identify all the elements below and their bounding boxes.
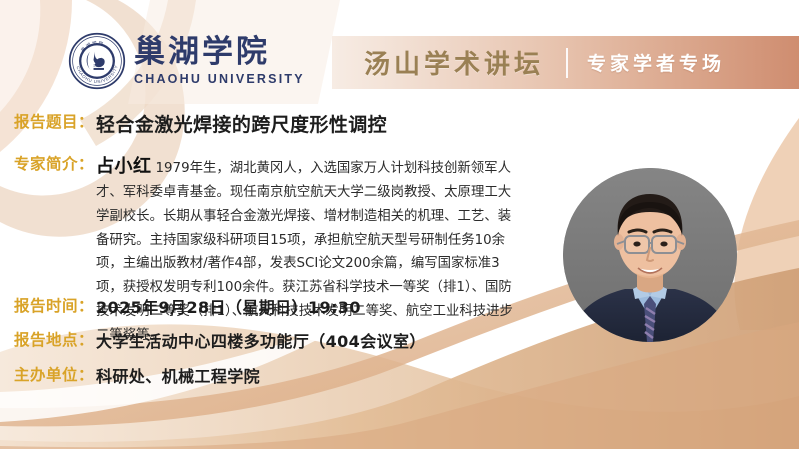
report-host-value: 科研处、机械工程学院 — [96, 363, 260, 387]
poster: 1977 巢 湖 学 院 CHAOHU UNIVERSITY 巢湖学院 CHAO… — [0, 0, 799, 449]
report-title-row: 报告题目： 轻合金激光焊接的跨尺度形性调控 — [14, 110, 387, 137]
university-name-en: CHAOHU UNIVERSITY — [134, 73, 305, 86]
report-time-row: 报告时间： 2025年9月28日（星期日）19:30 — [14, 294, 361, 318]
header: 1977 巢 湖 学 院 CHAOHU UNIVERSITY 巢湖学院 CHAO… — [0, 0, 799, 103]
speaker-bio-body: 占小红1979年生，湖北黄冈人，入选国家万人计划科技创新领军人才、军科委卓青基金… — [96, 152, 524, 348]
report-place-label: 报告地点： — [14, 328, 94, 350]
speaker-name: 占小红 — [96, 156, 152, 177]
report-host-row: 主办单位： 科研处、机械工程学院 — [14, 363, 260, 387]
banner-divider — [566, 48, 568, 78]
chaohu-university-seal-icon: 1977 巢 湖 学 院 CHAOHU UNIVERSITY — [68, 32, 126, 90]
speaker-portrait-image — [563, 168, 737, 342]
report-place-value: 大学生活动中心四楼多功能厅（404会议室） — [96, 328, 426, 352]
report-time-label: 报告时间： — [14, 294, 94, 316]
forum-banner-title: 汤山学术讲坛 — [364, 44, 544, 81]
forum-banner-subtitle: 专家学者专场 — [587, 49, 725, 76]
university-name-group: 巢湖学院 CHAOHU UNIVERSITY — [134, 37, 305, 86]
university-logo-block: 1977 巢 湖 学 院 CHAOHU UNIVERSITY 巢湖学院 CHAO… — [68, 32, 305, 90]
report-time-value: 2025年9月28日（星期日）19:30 — [96, 294, 361, 318]
svg-text:1977: 1977 — [93, 63, 101, 68]
university-name-cn: 巢湖学院 — [134, 37, 305, 68]
report-title-value: 轻合金激光焊接的跨尺度形性调控 — [96, 110, 387, 137]
speaker-bio-row: 专家简介： 占小红1979年生，湖北黄冈人，入选国家万人计划科技创新领军人才、军… — [14, 152, 524, 348]
speaker-portrait — [563, 168, 737, 342]
report-title-label: 报告题目： — [14, 110, 94, 132]
report-place-row: 报告地点： 大学生活动中心四楼多功能厅（404会议室） — [14, 328, 426, 352]
report-host-label: 主办单位： — [14, 363, 94, 385]
forum-banner: 汤山学术讲坛 专家学者专场 — [332, 36, 799, 89]
speaker-bio-label: 专家简介： — [14, 152, 94, 174]
